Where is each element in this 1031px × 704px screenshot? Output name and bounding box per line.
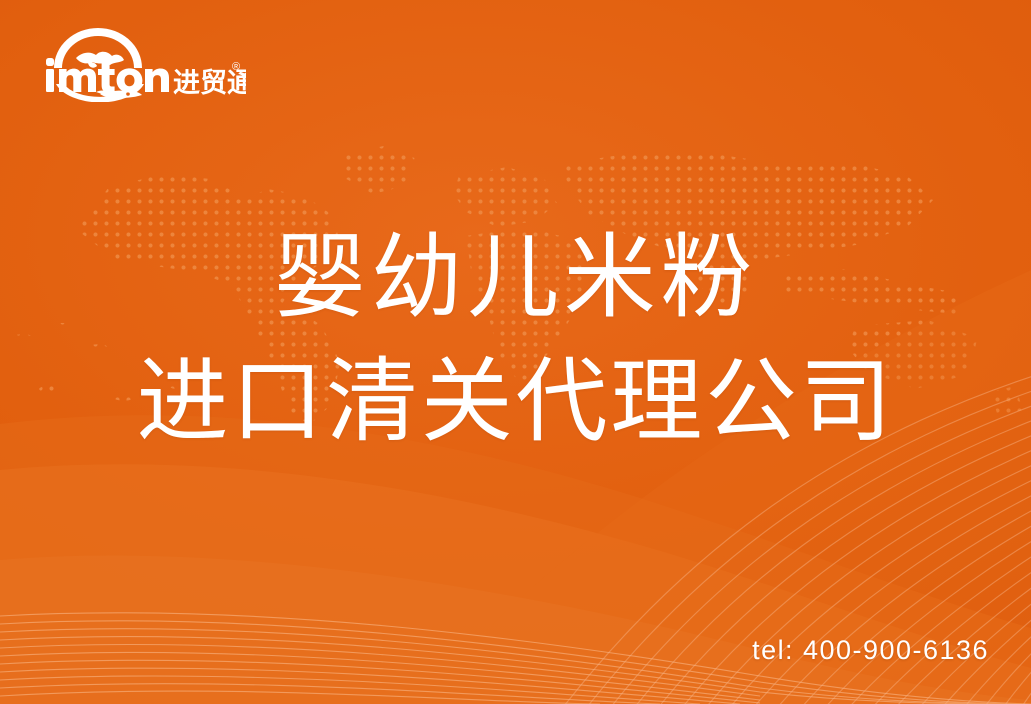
headline-line-1: 婴幼儿米粉	[0, 222, 1031, 334]
page-title: 婴幼儿米粉 进口清关代理公司	[0, 222, 1031, 458]
brand-logo[interactable]: 进贸通 ®	[36, 26, 246, 102]
logo-wordmark-chinese: 进贸通 ®	[173, 61, 246, 98]
headline-line-2: 进口清关代理公司	[0, 346, 1031, 458]
contact-phone[interactable]: tel: 400-900-6136	[752, 635, 989, 666]
promo-banner: 进贸通 ® 婴幼儿米粉 进口清关代理公司 tel: 400-900-6136	[0, 0, 1031, 704]
globe-arc-icon	[54, 28, 142, 69]
logo-wordmark-imton	[46, 58, 169, 93]
svg-text:®: ®	[232, 61, 240, 73]
